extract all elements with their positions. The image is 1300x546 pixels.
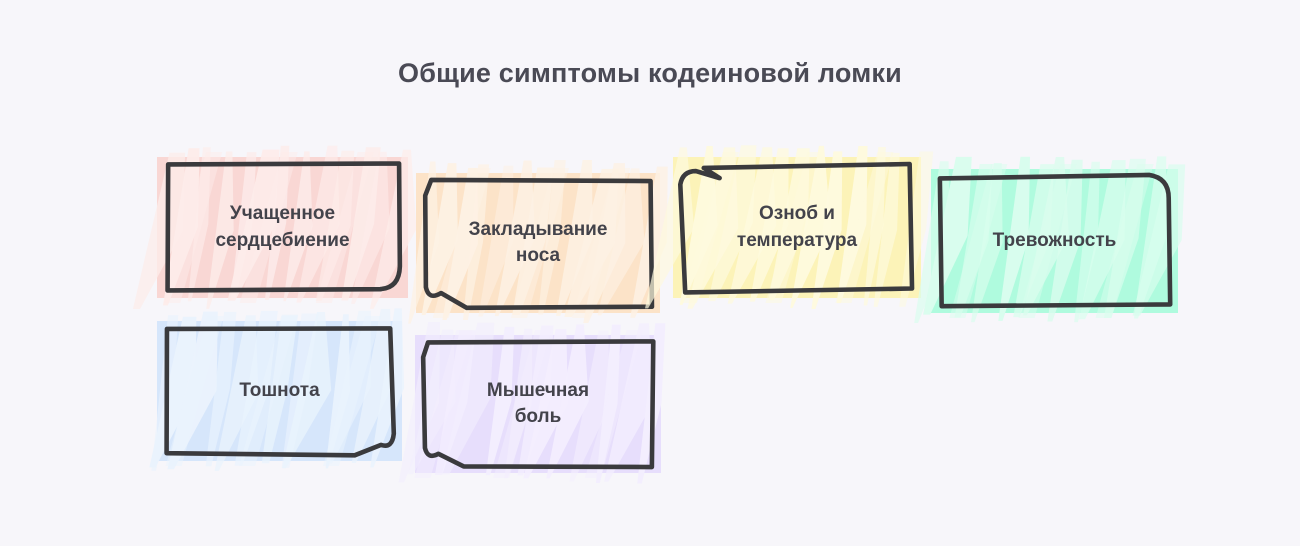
infographic-canvas: Общие симптомы кодеиновой ломки Учащенно… <box>0 0 1300 546</box>
card-nasal-congestion[interactable]: Закладывание носа <box>422 178 654 308</box>
card-nausea-shape <box>141 304 418 478</box>
card-nausea[interactable]: Тошнота <box>163 326 396 456</box>
card-anxiety[interactable]: Тревожность <box>937 174 1172 308</box>
card-rapid-heartbeat-shape <box>141 140 424 315</box>
card-rapid-heartbeat[interactable]: Учащенное сердцебиение <box>163 162 402 293</box>
page-title: Общие симптомы кодеиновой ломки <box>0 58 1300 89</box>
card-muscle-pain-shape <box>399 318 677 490</box>
card-anxiety-shape <box>915 152 1194 330</box>
card-muscle-pain[interactable]: Мышечная боль <box>421 340 655 468</box>
card-nasal-congestion-shape <box>400 156 676 330</box>
card-chills-fever-shape <box>657 140 937 315</box>
card-chills-fever[interactable]: Озноб и температура <box>679 162 915 293</box>
